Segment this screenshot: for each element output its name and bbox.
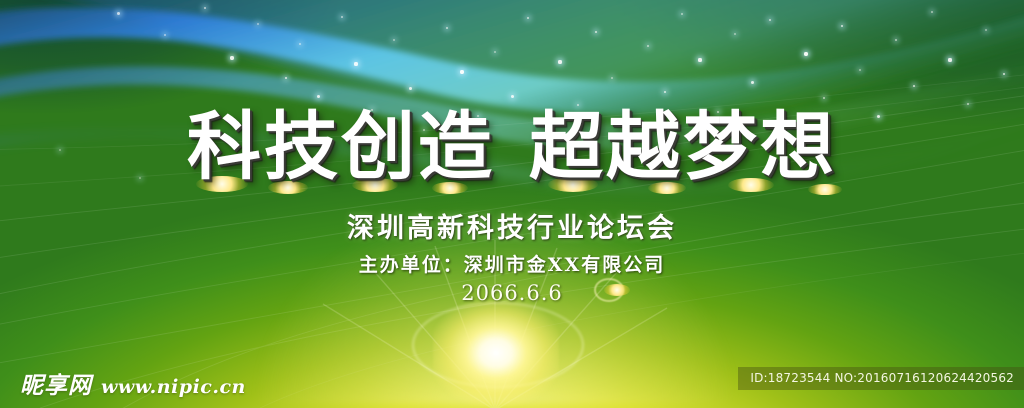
poster-canvas: 科技创造超越梦想 深圳高新科技行业论坛会 主办单位：深圳市金XX有限公司 206… xyxy=(0,0,1024,408)
watermark: 昵享网 www.nipic.cn xyxy=(20,366,246,400)
nipic-logo: 昵享网 xyxy=(20,366,92,400)
status-badge: ID:18723544 NO:20160716120624420562 xyxy=(738,367,1024,390)
watermark-url: www.nipic.cn xyxy=(101,376,246,398)
subtitle: 深圳高新科技行业论坛会 xyxy=(0,206,1024,245)
event-date: 2066.6.6 xyxy=(0,281,1024,305)
organizer-line: 主办单位：深圳市金XX有限公司 xyxy=(0,250,1024,277)
title-part-2: 超越梦想 xyxy=(529,104,837,190)
text-block: 科技创造超越梦想 深圳高新科技行业论坛会 主办单位：深圳市金XX有限公司 206… xyxy=(0,0,1024,408)
page-title: 科技创造超越梦想 xyxy=(0,104,1024,190)
title-part-1: 科技创造 xyxy=(187,104,495,190)
